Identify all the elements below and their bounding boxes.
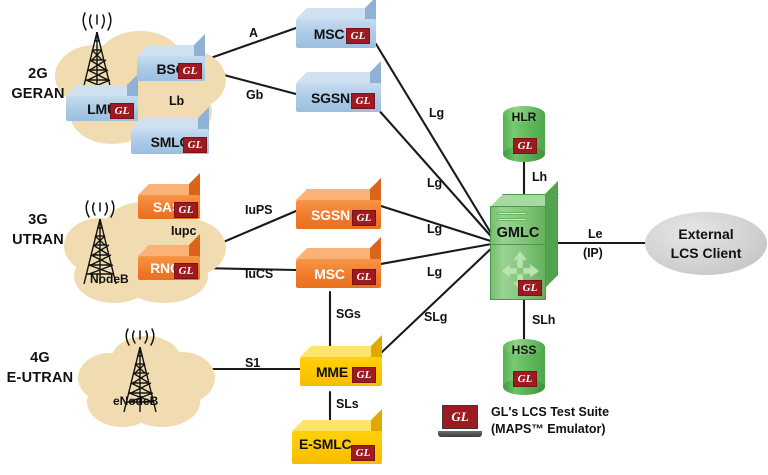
- node-gmlc-slot-1: [497, 212, 527, 215]
- node-msc-3g-label: MSC: [314, 266, 345, 282]
- node-external-lcs-client[interactable]: External LCS Client: [645, 212, 767, 275]
- external-lcs-client-line2: LCS Client: [671, 244, 742, 262]
- node-gmlc-divider: [490, 244, 546, 245]
- node-hlr-label: HLR: [503, 110, 545, 124]
- node-sgsn-2g-gl-badge: GL: [351, 93, 375, 109]
- node-msc-2g-top: [296, 8, 376, 19]
- interface-label-sls: SLs: [336, 397, 359, 411]
- interface-label-s1: S1: [245, 356, 260, 370]
- enodeb-caption: eNodeB: [113, 394, 158, 408]
- node-msc-3g[interactable]: MSC GL: [296, 248, 381, 288]
- interface-label-lh: Lh: [532, 170, 547, 184]
- node-sgsn-3g[interactable]: SGSN GL: [296, 189, 381, 229]
- node-smlc-gl-badge: GL: [183, 137, 207, 153]
- node-sgsn-2g-label: SGSN: [311, 90, 350, 106]
- interface-label-slh: SLh: [532, 313, 555, 327]
- lcs-network-architecture-diagram: NodeB eNodeB 2G GERAN 3G UTRAN 4G E-UTRA…: [0, 0, 768, 475]
- laptop-icon: GL: [438, 405, 482, 437]
- node-lmu-gl-badge: GL: [110, 103, 134, 119]
- node-gmlc-label: GMLC: [490, 225, 546, 241]
- node-rnc[interactable]: RNC GL: [138, 245, 200, 280]
- access-label-2g: 2G GERAN: [2, 65, 74, 104]
- interface-label-lg-3: Lg: [427, 222, 442, 236]
- legend-text-line2: (MAPS™ Emulator): [491, 421, 609, 438]
- node-msc-3g-top: [296, 248, 381, 259]
- node-hlr-gl-badge: GL: [513, 138, 537, 154]
- line-msc2g-gmlc: [376, 44, 497, 243]
- access-label-3g-line2: UTRAN: [2, 231, 74, 251]
- laptop-base: [438, 431, 482, 437]
- interface-label-sgs: SGs: [336, 307, 361, 321]
- interface-label-gb: Gb: [246, 88, 263, 102]
- interface-label-iucs: IuCS: [245, 267, 273, 281]
- access-label-2g-line1: 2G: [2, 65, 74, 85]
- node-sgsn-3g-label: SGSN: [311, 207, 350, 223]
- node-sas-gl-badge: GL: [174, 202, 198, 218]
- access-label-3g-line1: 3G: [2, 211, 74, 231]
- access-label-3g: 3G UTRAN: [2, 211, 74, 250]
- node-mme[interactable]: MME GL: [300, 346, 382, 386]
- node-gmlc-gl-badge: GL: [518, 280, 542, 296]
- interface-label-le-ip: (IP): [583, 246, 603, 260]
- node-hss-label: HSS: [503, 343, 545, 357]
- legend-text-line1: GL's LCS Test Suite: [491, 404, 609, 421]
- access-label-2g-line2: GERAN: [2, 85, 74, 105]
- node-sgsn-3g-gl-badge: GL: [352, 210, 376, 226]
- node-hss-gl-badge: GL: [513, 371, 537, 387]
- node-esmlc[interactable]: E-SMLC GL: [292, 420, 382, 464]
- node-sas[interactable]: SAS GL: [138, 184, 200, 219]
- node-gmlc[interactable]: GMLC GL: [490, 194, 558, 300]
- interface-label-iupc: Iupc: [171, 224, 196, 238]
- node-hlr[interactable]: HLR GL: [503, 106, 545, 162]
- node-gmlc-slot-2: [497, 218, 527, 221]
- node-mme-label: MME: [316, 364, 348, 380]
- node-msc-2g-gl-badge: GL: [346, 28, 370, 44]
- node-esmlc-top: [292, 420, 382, 431]
- interface-label-lg-4: Lg: [427, 265, 442, 279]
- node-rnc-gl-badge: GL: [174, 263, 198, 279]
- node-mme-top: [300, 346, 382, 357]
- laptop-screen: GL: [442, 405, 478, 429]
- node-sgsn-3g-top: [296, 189, 381, 200]
- interface-label-le: Le: [588, 227, 602, 241]
- legend-gl-badge: GL: [451, 409, 468, 425]
- access-label-4g: 4G E-UTRAN: [0, 349, 80, 388]
- node-sgsn-2g-top: [296, 72, 381, 83]
- node-smlc[interactable]: SMLC GL: [131, 118, 209, 154]
- interface-label-lg-2: Lg: [427, 176, 442, 190]
- line-mme-gmlc: [382, 243, 497, 352]
- node-gmlc-side: [545, 181, 558, 288]
- access-label-4g-line2: E-UTRAN: [0, 369, 80, 389]
- interface-label-a: A: [249, 26, 258, 40]
- node-msc-3g-gl-badge: GL: [352, 269, 376, 285]
- node-hss[interactable]: HSS GL: [503, 339, 545, 395]
- node-sgsn-2g[interactable]: SGSN GL: [296, 72, 381, 112]
- node-bsc-gl-badge: GL: [178, 63, 202, 79]
- node-lmu[interactable]: LMU GL: [66, 85, 138, 121]
- legend-text: GL's LCS Test Suite (MAPS™ Emulator): [491, 404, 609, 438]
- legend: GL GL's LCS Test Suite (MAPS™ Emulator): [438, 404, 609, 438]
- node-msc-2g[interactable]: MSC GL: [296, 8, 376, 48]
- nodeb-caption: NodeB: [90, 272, 129, 286]
- access-label-4g-line1: 4G: [0, 349, 80, 369]
- node-msc-2g-label: MSC: [314, 26, 345, 42]
- interface-label-iups: IuPS: [245, 203, 272, 217]
- node-mme-gl-badge: GL: [352, 367, 376, 383]
- interface-label-lg-1: Lg: [429, 106, 444, 120]
- node-esmlc-gl-badge: GL: [351, 445, 375, 461]
- node-bsc[interactable]: BSC GL: [137, 45, 205, 81]
- interface-label-slg: SLg: [424, 310, 447, 324]
- interface-label-lb: Lb: [169, 94, 184, 108]
- node-esmlc-label: E-SMLC: [299, 436, 351, 452]
- external-lcs-client-line1: External: [671, 225, 742, 243]
